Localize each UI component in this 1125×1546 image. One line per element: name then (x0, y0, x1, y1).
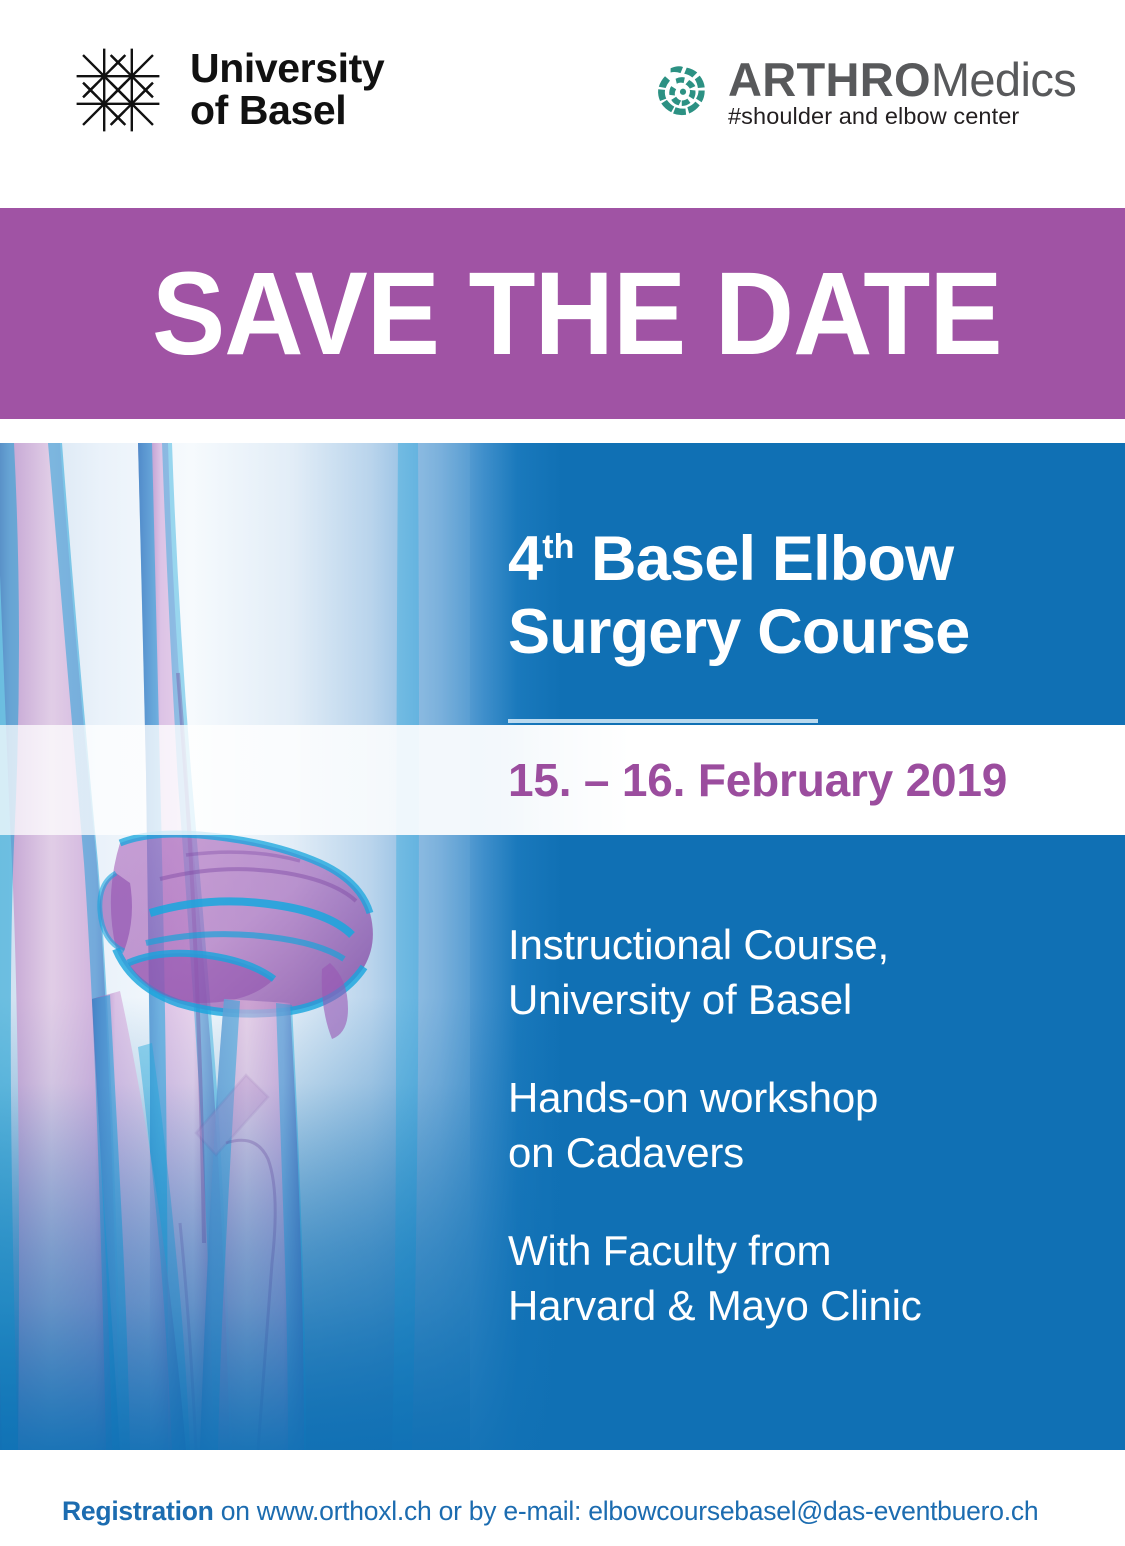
basel-starburst-grid-icon (72, 44, 164, 136)
medics-light-text: Medics (931, 53, 1076, 106)
arthro-bold-text: ARTHRO (728, 53, 931, 106)
arthromedics-tagline: #shoulder and elbow center (728, 103, 1019, 129)
course-title-line1: 4th Basel Elbow (508, 524, 953, 594)
poster-root: University of Basel (0, 0, 1125, 1546)
course-title-line2: Surgery Course (508, 597, 969, 667)
course-date: 15. – 16. February 2019 (508, 753, 1007, 807)
edition-ordinal-suffix: th (542, 528, 574, 566)
detail-paragraph-faculty: With Faculty from Harvard & Mayo Clinic (508, 1224, 1068, 1333)
detail-paragraph-course: Instructional Course, University of Base… (508, 918, 1068, 1027)
university-of-basel-logo: University of Basel (72, 44, 384, 136)
main-image-panel: 4th Basel ElbowSurgery Course 15. – 16. … (0, 443, 1125, 1450)
footer-bar: Registration on www.orthoxl.ch or by e-m… (0, 1450, 1125, 1546)
detail-paragraph-workshop: Hands-on workshop on Cadavers (508, 1071, 1068, 1180)
arthromedics-text: ARTHROMedics #shoulder and elbow center (728, 56, 1125, 130)
registration-line: Registration on www.orthoxl.ch or by e-m… (62, 1496, 1038, 1527)
save-the-date-banner: SAVE THE DATE (0, 208, 1125, 419)
course-title: 4th Basel ElbowSurgery Course (508, 523, 969, 669)
header-bar: University of Basel (0, 0, 1125, 207)
save-the-date-text: SAVE THE DATE (152, 255, 1002, 373)
elbow-xray-illustration (0, 443, 470, 1450)
edition-number: 4 (508, 524, 542, 594)
course-details: Instructional Course, University of Base… (508, 918, 1068, 1334)
title-divider-rule (508, 719, 818, 723)
registration-contact-text: on www.orthoxl.ch or by e-mail: elbowcou… (214, 1496, 1039, 1526)
arthromedics-logo: ARTHROMedics #shoulder and elbow center (652, 56, 1125, 130)
arthro-mosaic-circle-icon (652, 62, 714, 124)
registration-label: Registration (62, 1496, 214, 1526)
arthromedics-name: ARTHROMedics (728, 53, 1076, 106)
course-title-line1-rest: Basel Elbow (574, 524, 953, 594)
university-of-basel-wordmark: University of Basel (190, 48, 384, 132)
